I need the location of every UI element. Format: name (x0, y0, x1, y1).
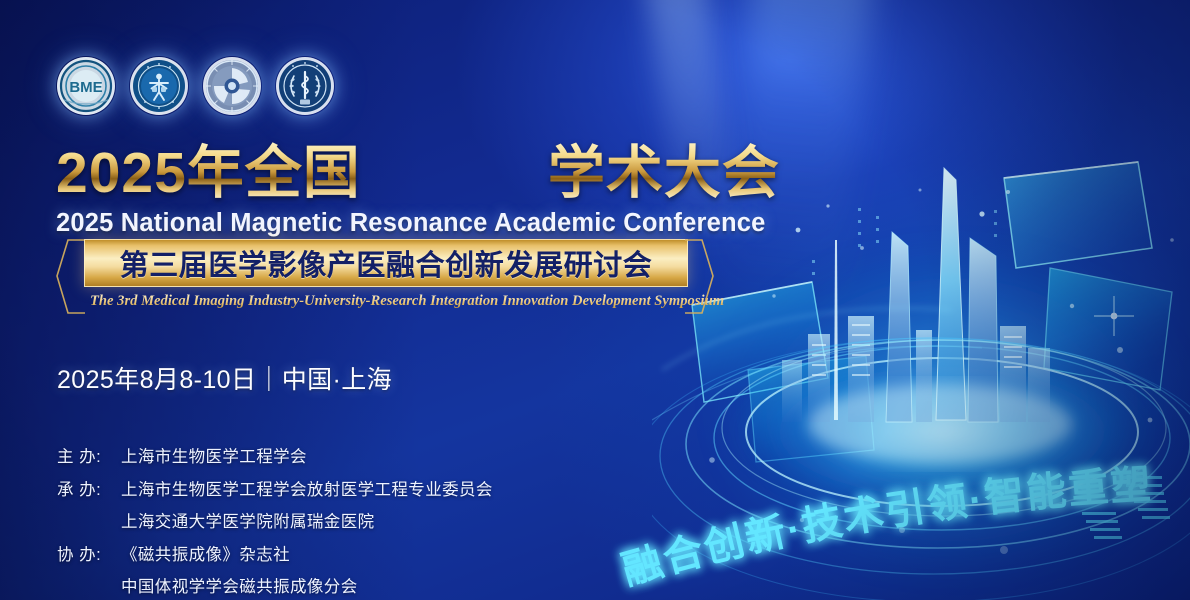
title-segment-print-2: 学术大会 (548, 144, 780, 202)
tagline-arc: 融合创新·技术引领·智能重塑 (612, 492, 1190, 600)
date-location: 2025年8月8-10日｜中国·上海 (57, 360, 392, 396)
title-segment-print-1: 2025年全国 (56, 144, 361, 202)
main-title-block: 2025年全国 磁共振 学术大会 2025 National Magnetic … (56, 141, 816, 238)
organizer-value: 中国体视学学会磁共振成像分会 (121, 573, 358, 597)
title-segment-brush: 磁共振 (360, 141, 549, 204)
bme-society-logo[interactable]: BME (56, 56, 116, 116)
subtitle-gold-bar: 第三届医学影像产医融合创新发展研讨会 (84, 239, 688, 287)
organizer-row-continuation: 协 办: 中国体视学学会磁共振成像分会 (57, 573, 577, 597)
ruijin-hospital-logo[interactable] (129, 56, 189, 116)
bme-logo-text: BME (69, 79, 102, 96)
main-title-english: 2025 National Magnetic Resonance Academi… (56, 209, 816, 238)
organizer-row: 承 办: 上海市生物医学工程学会放射医学工程专业委员会 (57, 476, 577, 500)
organizer-label: 主 办: (57, 443, 121, 467)
organizer-value: 《磁共振成像》杂志社 (121, 541, 290, 565)
subtitle-block: 第三届医学影像产医融合创新发展研讨会 The 3rd Medical Imagi… (56, 239, 714, 315)
subtitle-chinese: 第三届医学影像产医融合创新发展研讨会 (120, 242, 653, 284)
subtitle-english-row: The 3rd Medical Imaging Industry-Univers… (90, 289, 690, 313)
organizer-row: 协 办: 《磁共振成像》杂志社 (57, 541, 577, 565)
main-title-chinese: 2025年全国 磁共振 学术大会 (56, 141, 816, 204)
mri-emblem-logo[interactable] (202, 56, 262, 116)
organizer-row: 主 办: 上海市生物医学工程学会 (57, 443, 577, 467)
organizer-list: 主 办: 上海市生物医学工程学会 承 办: 上海市生物医学工程学会放射医学工程专… (57, 443, 577, 600)
conference-poster: 融合创新·技术引领·智能重塑 BME (0, 0, 1190, 600)
organizer-value: 上海市生物医学工程学会放射医学工程专业委员会 (121, 476, 493, 500)
organizer-logo-row: BME (56, 56, 335, 116)
organizer-label: 承 办: (57, 476, 121, 500)
organizer-row-continuation: 承 办: 上海交通大学医学院附属瑞金医院 (57, 508, 577, 532)
glass-panel-right-top (1004, 162, 1152, 268)
subtitle-english: The 3rd Medical Imaging Industry-Univers… (90, 293, 724, 310)
medical-association-logo[interactable] (275, 56, 335, 116)
organizer-value: 上海市生物医学工程学会 (121, 443, 307, 467)
bracket-left-icon (56, 239, 86, 315)
organizer-label: 协 办: (57, 541, 121, 565)
organizer-value: 上海交通大学医学院附属瑞金医院 (121, 508, 375, 532)
